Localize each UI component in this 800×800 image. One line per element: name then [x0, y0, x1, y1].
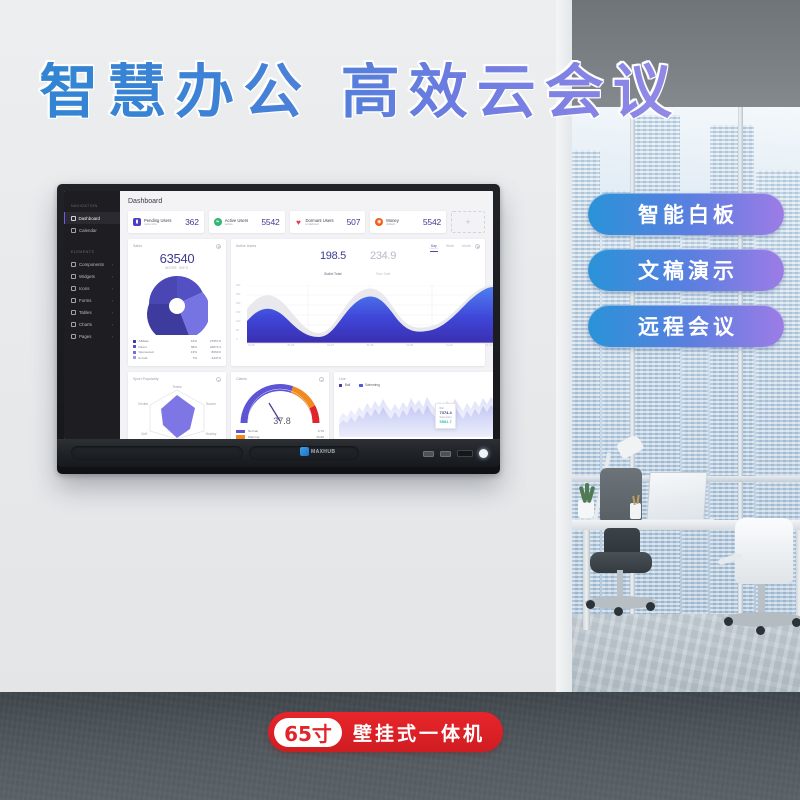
- speaker-grille-left: [71, 446, 243, 460]
- legend-swatch: [359, 384, 362, 387]
- legend-swatch: [133, 356, 136, 359]
- feature-pill-presentation[interactable]: 文稿演示: [588, 249, 784, 291]
- sales-donut-chart: [133, 273, 221, 335]
- desk-leg: [583, 530, 590, 630]
- tooltip-value: 5581.7: [440, 419, 452, 424]
- chair-caster: [614, 607, 623, 616]
- sales-subtitle: MORE INFO: [133, 266, 221, 270]
- sidebar-item-icons[interactable]: Icons ›: [64, 282, 120, 294]
- card-title: Active Users: [236, 244, 256, 248]
- chevron-right-icon: ›: [112, 286, 113, 291]
- gauge-svg: 37.8: [236, 383, 324, 427]
- tab-day[interactable]: Day statistics: [430, 244, 438, 252]
- tab-label: Month: [462, 244, 471, 248]
- chevron-right-icon: ›: [112, 322, 113, 327]
- chair-caster: [646, 602, 655, 611]
- metric-label: Flow Total: [376, 272, 390, 276]
- dashboard-page-title: Dashboard: [128, 198, 485, 205]
- card-title: Sport Popularity: [133, 377, 221, 381]
- badge-text-label: 壁挂式一体机: [353, 719, 485, 746]
- card-title: Line: [339, 377, 493, 381]
- chair-caster: [586, 600, 595, 609]
- line-legend: Ball Swimming: [339, 383, 493, 387]
- stat-value: 5542: [261, 217, 279, 227]
- stat-value: 507: [347, 217, 361, 227]
- sidebar-group-navigation: NAVIGATION: [64, 199, 120, 212]
- legend-label: Swimming: [365, 383, 380, 387]
- legend-label: Sponsored: [139, 350, 181, 354]
- metric-row: 198.5 Bullet Total 234.9 Flow Total: [236, 250, 480, 280]
- status-badge: 65寸 壁挂式一体机: [268, 712, 503, 752]
- line-chart-svg: [339, 389, 493, 437]
- calendar-icon: [71, 228, 76, 233]
- legend-pct: 44%: [180, 339, 197, 343]
- chevron-right-icon: ›: [112, 310, 113, 315]
- legend-item: Sponsored 13% 8060.0: [133, 350, 221, 354]
- pages-icon: [71, 334, 76, 339]
- svg-text:Soccer: Soccer: [206, 402, 217, 406]
- sales-card: Sales 63540 MORE INFO: [128, 239, 226, 366]
- svg-text:Cricket: Cricket: [138, 402, 148, 406]
- radar-series: [161, 395, 195, 438]
- stat-card-row: ▮ Pending Users more info 362 ❧ Active U…: [128, 211, 485, 233]
- chart-row-top: Sales 63540 MORE INFO: [128, 239, 485, 366]
- chevron-right-icon: ›: [112, 274, 113, 279]
- sidebar-item-widgets[interactable]: Widgets ›: [64, 270, 120, 282]
- gear-icon[interactable]: [216, 244, 221, 249]
- area-chart-svg: [247, 285, 493, 345]
- stat-card-dormant-users[interactable]: ♥ Dormant Users undefined 507: [290, 211, 366, 233]
- stat-card-active-users[interactable]: ❧ Active Users online 5542: [209, 211, 285, 233]
- sidebar-item-label: Dashboard: [79, 216, 100, 221]
- laptop-screen: [646, 472, 707, 521]
- plant-pot: [578, 500, 594, 518]
- device-bottom-bezel: MAXHUB: [57, 439, 500, 467]
- svg-text:Hockey: Hockey: [206, 432, 217, 436]
- desk-leg: [796, 530, 800, 626]
- sidebar-item-label: Calendar: [79, 228, 97, 233]
- sidebar-item-tables[interactable]: Tables ›: [64, 306, 120, 318]
- gauge-legend-item: Normal 0-70: [236, 429, 324, 433]
- home-icon: [71, 216, 76, 221]
- metric-bullet-total: 198.5 Bullet Total: [320, 250, 346, 280]
- sidebar-item-label: Components: [79, 262, 104, 267]
- donut-svg: [146, 273, 208, 335]
- x-axis-labels: 01-0501-0601-0701-0801-0901-1001-11: [236, 343, 493, 347]
- stat-sub: undefined: [306, 223, 334, 227]
- legend-amount: 27957.8: [197, 339, 221, 343]
- sidebar-item-charts[interactable]: Charts ›: [64, 318, 120, 330]
- chevron-right-icon: ›: [112, 298, 113, 303]
- badge-size-label: 65寸: [284, 718, 332, 747]
- legend-swatch: [339, 384, 342, 387]
- feature-pill-label: 文稿演示: [634, 255, 738, 285]
- sidebar-item-components[interactable]: Components ›: [64, 258, 120, 270]
- chart-row-bottom: Sport Popularity Tennis Soccer Hockey Ba…: [128, 372, 485, 439]
- brand-logo-text: MAXHUB: [311, 449, 335, 455]
- sidebar-item-label: Tables: [79, 310, 92, 315]
- feature-pill-label: 智能白板: [634, 199, 738, 229]
- gear-icon[interactable]: [475, 244, 480, 249]
- legend-label: E-mail: [139, 356, 181, 360]
- white-chair-back: [735, 518, 793, 584]
- feature-pill-remote-meeting[interactable]: 远程会议: [588, 305, 784, 347]
- tab-sub: statistics: [430, 248, 438, 250]
- metric-label: Bullet Total: [324, 272, 341, 276]
- sidebar-item-label: Charts: [79, 322, 92, 327]
- sidebar: NAVIGATION Dashboard Calendar ELEMENTS C…: [64, 191, 120, 439]
- feature-pill-label: 远程会议: [634, 311, 738, 341]
- gear-icon[interactable]: [216, 377, 221, 382]
- usb-port-icon[interactable]: [423, 451, 434, 457]
- tab-label: Week: [446, 244, 454, 248]
- heart-icon: ♥: [295, 218, 303, 226]
- stat-sub: dollars: [386, 223, 399, 227]
- legend-swatch: [133, 345, 136, 348]
- brand-logo: MAXHUB: [300, 447, 335, 456]
- chair-caster: [756, 626, 765, 635]
- device-screen: NAVIGATION Dashboard Calendar ELEMENTS C…: [64, 191, 493, 439]
- legend-item-ball[interactable]: Ball: [339, 383, 350, 387]
- sidebar-item-forms[interactable]: Forms ›: [64, 294, 120, 306]
- icons-icon: [71, 286, 76, 291]
- time-range-tabs: Day statistics Week Month: [430, 244, 471, 252]
- tables-icon: [71, 310, 76, 315]
- sidebar-group-elements: ELEMENTS: [64, 245, 120, 258]
- legend-amount: 4447.8: [197, 356, 221, 360]
- svg-text:Golf: Golf: [141, 432, 147, 436]
- metric-value: 234.9: [370, 250, 396, 262]
- legend-item: Direct 38% 22874.4: [133, 345, 221, 349]
- tab-week[interactable]: Week: [446, 244, 454, 252]
- widgets-icon: [71, 274, 76, 279]
- legend-pct: 13%: [180, 350, 197, 354]
- feature-pill-list: 智能白板 文稿演示 远程会议: [588, 193, 784, 361]
- sales-value: 63540: [133, 251, 221, 266]
- white-chair-base: [722, 612, 800, 627]
- pen-cup: [630, 503, 641, 519]
- stat-sub: online: [225, 223, 249, 227]
- badge-size-capsule: 65寸: [274, 718, 342, 747]
- sidebar-item-pages[interactable]: Pages ›: [64, 330, 120, 342]
- chair-caster: [724, 617, 733, 626]
- sidebar-item-label: Forms: [79, 298, 91, 303]
- dashboard-main: Dashboard ▮ Pending Users more info 362: [120, 191, 493, 439]
- sidebar-item-label: Icons: [79, 286, 90, 291]
- leaf-icon: ❧: [214, 218, 222, 226]
- legend-pct: 7%: [180, 356, 197, 360]
- brand-logo-icon: [300, 447, 309, 456]
- hdmi-port-icon[interactable]: [457, 450, 473, 457]
- legend-swatch: [133, 351, 136, 354]
- legend-range: 0-70: [318, 429, 324, 433]
- legend-swatch: [236, 430, 245, 434]
- legend-item: E-mail 7% 4447.8: [133, 356, 221, 360]
- stat-value: 5542: [423, 217, 441, 227]
- metric-flow-total: 234.9 Flow Total: [370, 250, 396, 280]
- gauge-value: 37.8: [273, 416, 291, 426]
- chevron-right-icon: ›: [112, 262, 113, 267]
- legend-label: Ball: [345, 383, 350, 387]
- chair-caster: [792, 618, 800, 627]
- dashboard-app: NAVIGATION Dashboard Calendar ELEMENTS C…: [64, 191, 493, 439]
- add-card-button[interactable]: +: [451, 211, 485, 233]
- page-title: 智慧办公 高效云会议: [0, 62, 720, 121]
- sidebar-item-label: Pages: [79, 334, 91, 339]
- feature-pill-whiteboard[interactable]: 智能白板: [588, 193, 784, 235]
- interactive-display-device: NAVIGATION Dashboard Calendar ELEMENTS C…: [57, 184, 500, 474]
- forms-icon: [71, 298, 76, 303]
- legend-label: Direct: [139, 345, 181, 349]
- legend-swatch: [133, 340, 136, 343]
- components-icon: [71, 262, 76, 267]
- tooltip-value: 7374.4: [440, 410, 452, 415]
- active-users-card: Active Users Day statistics Week: [231, 239, 485, 366]
- port-cluster: [423, 449, 488, 458]
- users-square-icon: ▮: [133, 218, 141, 226]
- card-title: Claims: [236, 377, 324, 381]
- charts-icon: [71, 322, 76, 327]
- card-title: Sales: [133, 244, 221, 248]
- legend-label: Affiliate: [139, 339, 181, 343]
- gear-icon[interactable]: [319, 377, 324, 382]
- poster-root: 智慧办公 高效云会议 智能白板 文稿演示 远程会议 NAVIGATION Das…: [0, 0, 800, 800]
- radar-chart-svg: Tennis Soccer Hockey Basketball Golf Cri…: [133, 383, 221, 439]
- chevron-right-icon: ›: [112, 334, 113, 339]
- metric-value: 198.5: [320, 250, 346, 262]
- legend-item: Affiliate 44% 27957.8: [133, 339, 221, 343]
- stat-card-pending-users[interactable]: ▮ Pending Users more info 362: [128, 211, 204, 233]
- power-icon[interactable]: [479, 449, 488, 458]
- legend-amount: 22874.4: [197, 345, 221, 349]
- sidebar-item-calendar[interactable]: Calendar: [64, 224, 120, 236]
- sidebar-item-dashboard[interactable]: Dashboard: [64, 212, 120, 224]
- line-chart-card: Line Ball Swimming: [334, 372, 493, 439]
- active-users-area-chart: 300 250 200 150 100 50 0: [236, 283, 480, 347]
- tab-month[interactable]: Month: [462, 244, 471, 252]
- stat-sub: more info: [144, 223, 171, 227]
- legend-pct: 38%: [180, 345, 197, 349]
- legend-label: Normal: [248, 429, 258, 433]
- svg-text:Tennis: Tennis: [172, 385, 182, 389]
- legend-item-swimming[interactable]: Swimming: [359, 383, 380, 387]
- sport-popularity-card: Sport Popularity Tennis Soccer Hockey Ba…: [128, 372, 226, 439]
- stat-card-money[interactable]: ◉ Money dollars 5542: [370, 211, 446, 233]
- chart-tooltip: Ball 7374.4 Swimming 5581.7: [435, 403, 456, 429]
- sidebar-item-label: Widgets: [79, 274, 95, 279]
- stat-value: 362: [185, 217, 199, 227]
- claims-gauge-card: Claims 37.8: [231, 372, 329, 439]
- coin-icon: ◉: [375, 218, 383, 226]
- line-chart-plot: Ball 7374.4 Swimming 5581.7: [339, 389, 493, 437]
- usb-port-icon[interactable]: [440, 451, 451, 457]
- legend-amount: 8060.0: [197, 350, 221, 354]
